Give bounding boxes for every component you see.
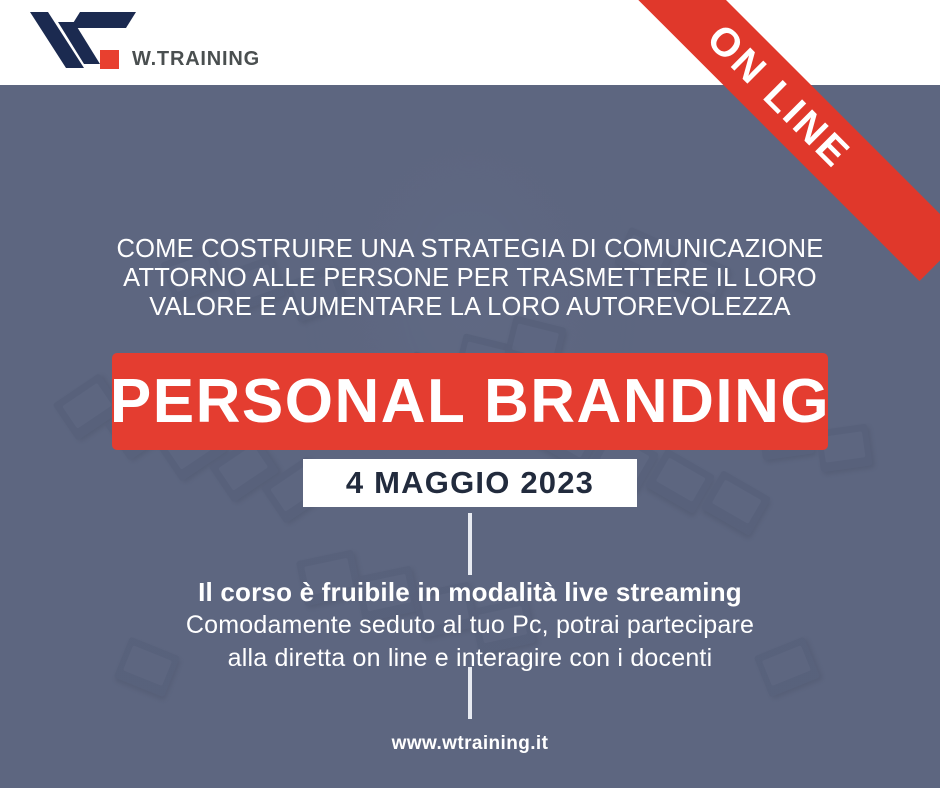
poster-content: COME COSTRUIRE UNA STRATEGIA DI COMUNICA… [0,85,940,788]
website-url[interactable]: www.wtraining.it [70,733,870,755]
body-text-block: Il corso è fruibile in modalità live str… [70,575,870,675]
subtitle-block: COME COSTRUIRE UNA STRATEGIA DI COMUNICA… [70,235,870,322]
date-banner: 4 MAGGIO 2023 [303,459,637,507]
red-square-bullet-icon [100,50,119,69]
event-date: 4 MAGGIO 2023 [346,465,594,501]
title-banner: PERSONAL BRANDING [112,353,828,450]
subtitle-line: ATTORNO ALLE PERSONE PER TRASMETTERE IL … [70,264,870,293]
page-title: PERSONAL BRANDING [110,366,830,437]
body-line: Comodamente seduto al tuo Pc, potrai par… [70,609,870,642]
promotional-poster: W.TRAINING ON LINE COME COSTRUIRE UNA ST… [0,0,940,788]
subtitle-line: VALORE E AUMENTARE LA LORO AUTOREVOLEZZA [70,293,870,322]
brand-lockup: W.TRAINING [100,48,260,71]
brand-name: W.TRAINING [132,48,260,71]
divider-line-top [468,513,472,575]
divider-line-bottom [468,667,472,719]
body-lead-line: Il corso è fruibile in modalità live str… [70,575,870,609]
subtitle-line: COME COSTRUIRE UNA STRATEGIA DI COMUNICA… [70,235,870,264]
